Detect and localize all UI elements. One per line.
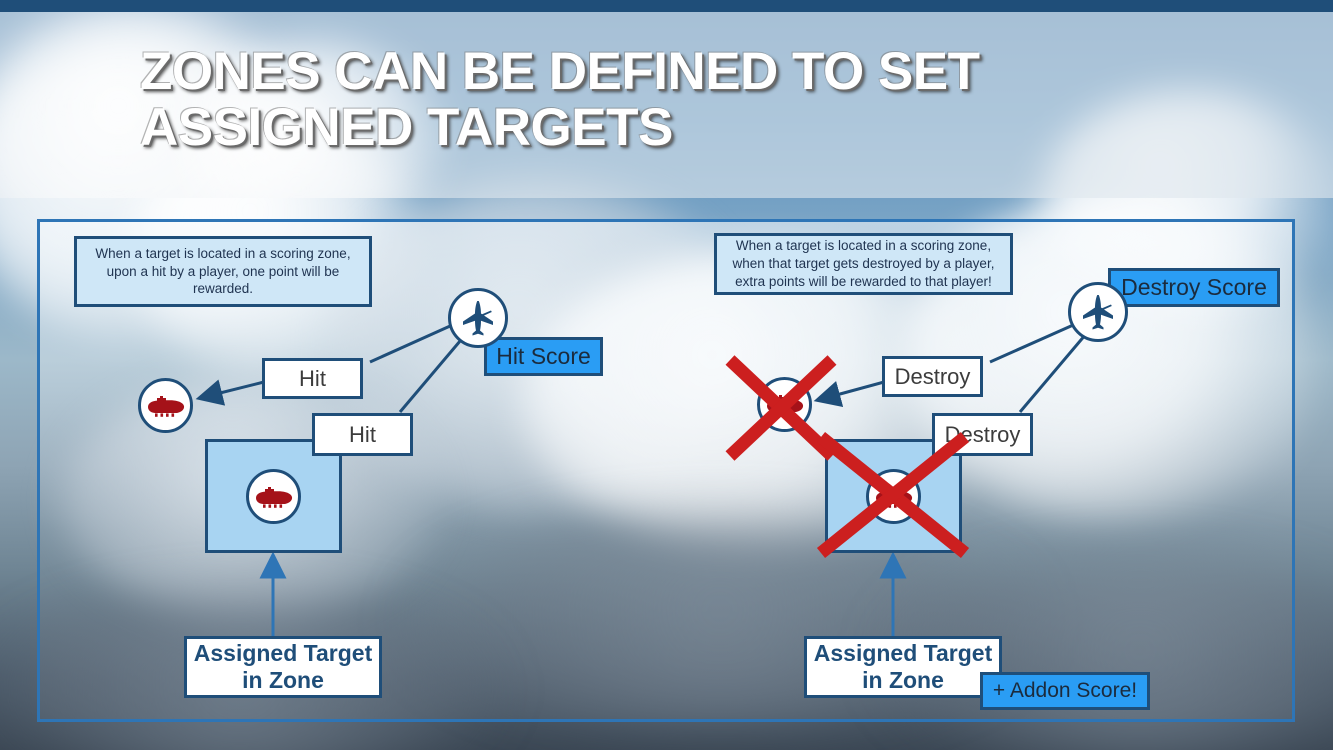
right-action-label-top[interactable]: Destroy [882, 356, 983, 397]
right-zone-caption: Assigned Target in Zone [804, 636, 1002, 698]
right-target-in-zone[interactable] [866, 469, 921, 524]
jet-icon [1078, 292, 1118, 332]
right-zone-caption-line-2: in Zone [862, 667, 944, 694]
ship-icon [765, 392, 805, 418]
jet-icon [458, 298, 498, 338]
left-target-in-zone[interactable] [246, 469, 301, 524]
slide-canvas: ZONES CAN BE DEFINED TO SET ASSIGNED TAR… [0, 0, 1333, 750]
right-zone-caption-line-1: Assigned Target [814, 640, 993, 667]
right-target-outside-zone[interactable] [757, 377, 812, 432]
right-bonus-label[interactable]: + Addon Score! [980, 672, 1150, 710]
top-accent-bar [0, 0, 1333, 12]
left-aircraft-token[interactable] [448, 288, 508, 348]
left-action-label-bottom[interactable]: Hit [312, 413, 413, 456]
ship-icon [254, 484, 294, 510]
left-action-label-top[interactable]: Hit [262, 358, 363, 399]
left-zone-caption-line-1: Assigned Target [194, 640, 373, 667]
right-info-box: When a target is located in a scoring zo… [714, 233, 1013, 295]
right-aircraft-token[interactable] [1068, 282, 1128, 342]
ship-icon [874, 484, 914, 510]
ship-icon [146, 393, 186, 419]
left-score-label[interactable]: Hit Score [484, 337, 603, 376]
page-title: ZONES CAN BE DEFINED TO SET ASSIGNED TAR… [140, 44, 1240, 156]
page-title-line-1: ZONES CAN BE DEFINED TO SET [140, 44, 1240, 100]
left-info-box: When a target is located in a scoring zo… [74, 236, 372, 307]
right-action-label-bottom[interactable]: Destroy [932, 413, 1033, 456]
page-title-line-2: ASSIGNED TARGETS [140, 100, 1240, 156]
left-target-outside-zone[interactable] [138, 378, 193, 433]
left-zone-caption: Assigned Target in Zone [184, 636, 382, 698]
left-zone-caption-line-2: in Zone [242, 667, 324, 694]
right-score-label[interactable]: Destroy Score [1108, 268, 1280, 307]
